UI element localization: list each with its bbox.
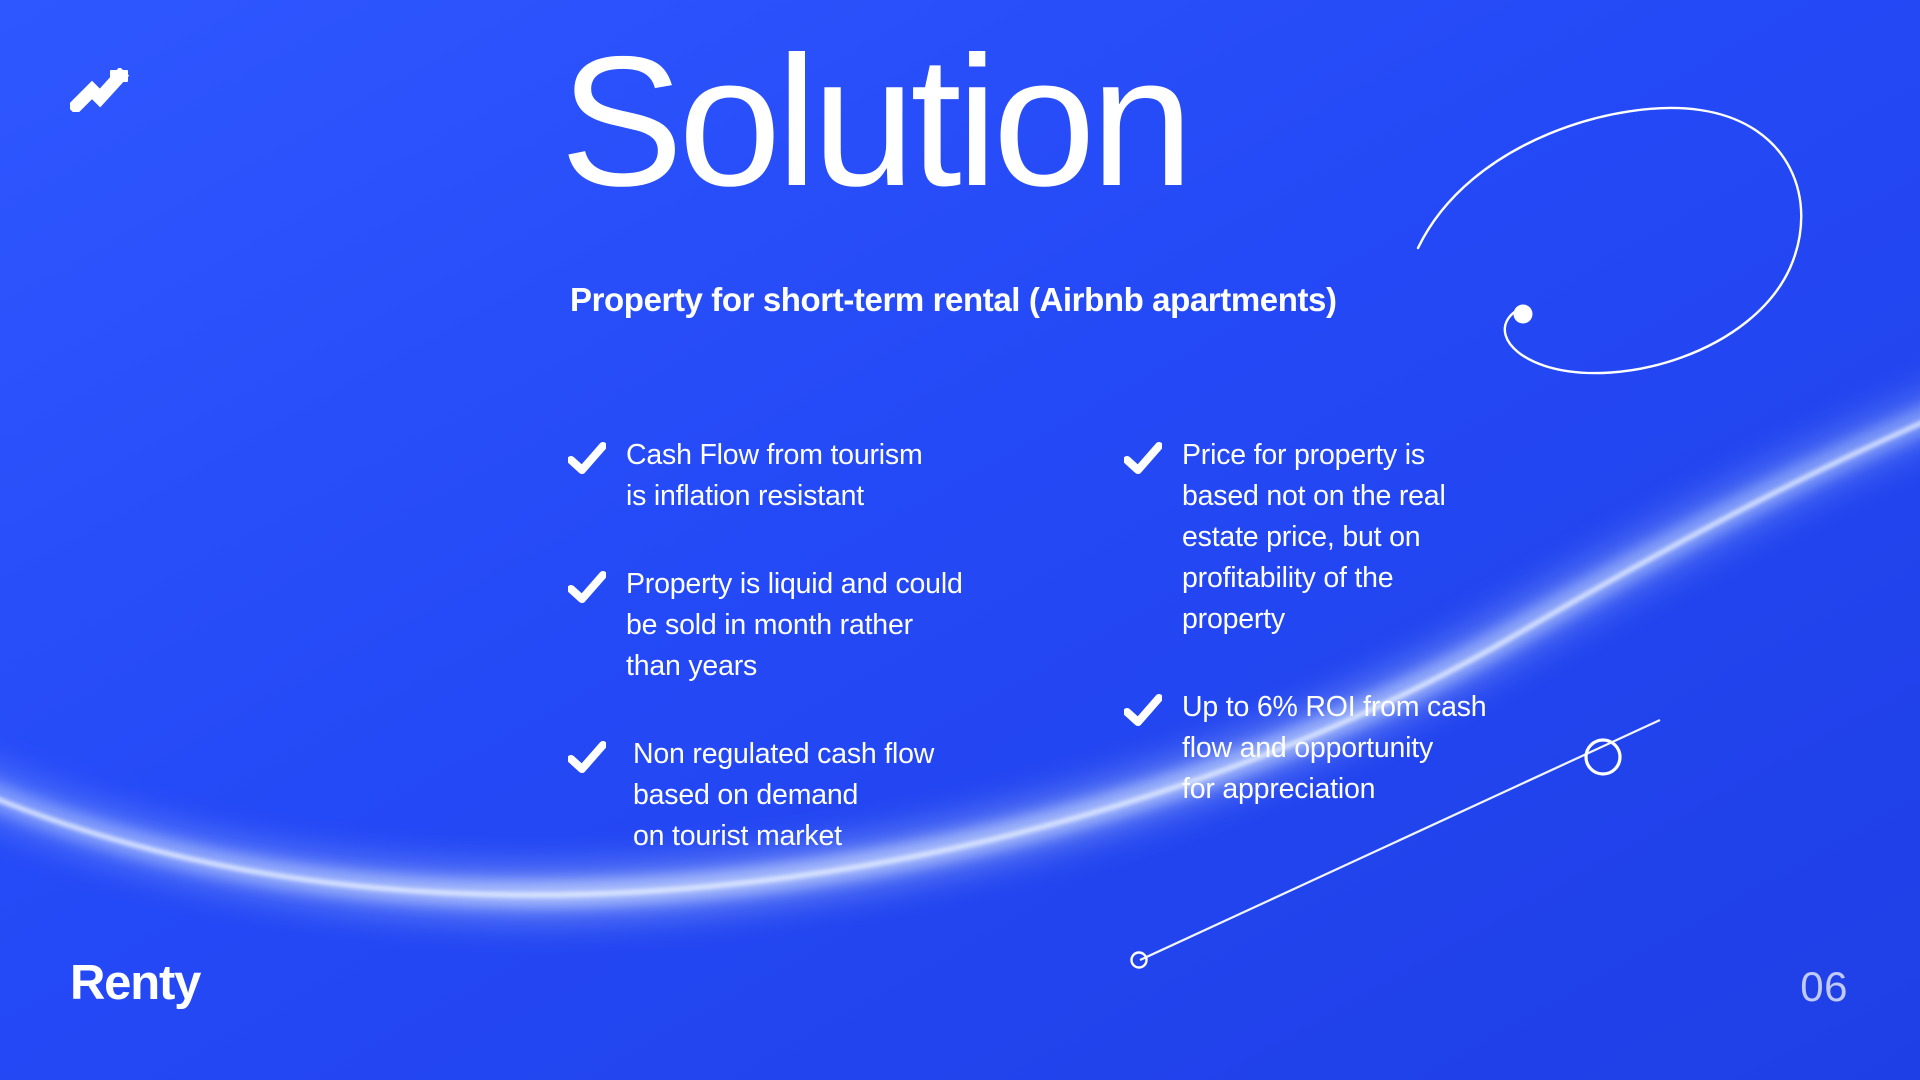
page-number: 06	[1800, 963, 1848, 1011]
benefits-column-right: Price for property is based not on the r…	[1124, 435, 1524, 857]
list-item-label: Property is liquid and could be sold in …	[626, 564, 963, 687]
check-icon	[568, 741, 606, 775]
trend-end-circle	[1586, 740, 1620, 774]
check-icon	[568, 571, 606, 605]
zigzag-chart-arrow-icon[interactable]	[70, 68, 134, 112]
list-item: Non regulated cash flow based on demand …	[568, 734, 998, 857]
list-item: Property is liquid and could be sold in …	[568, 564, 998, 687]
check-icon	[1124, 694, 1162, 728]
brand-name: Renty	[70, 955, 200, 1011]
list-item-label: Cash Flow from tourism is inflation resi…	[626, 435, 923, 517]
page-title: Solution	[560, 30, 1189, 215]
list-item-label: Up to 6% ROI from cash flow and opportun…	[1182, 687, 1486, 810]
presentation-slide: Solution Property for short-term rental …	[0, 0, 1920, 1080]
list-item-label: Non regulated cash flow based on demand …	[626, 734, 934, 857]
benefits-column-left: Cash Flow from tourism is inflation resi…	[568, 435, 998, 904]
list-item: Up to 6% ROI from cash flow and opportun…	[1124, 687, 1524, 810]
check-icon	[568, 442, 606, 476]
loop-end-dot	[1514, 305, 1533, 324]
check-icon	[1124, 442, 1162, 476]
page-subtitle: Property for short-term rental (Airbnb a…	[570, 281, 1337, 319]
list-item: Price for property is based not on the r…	[1124, 435, 1524, 640]
swoosh-loop-line	[1418, 108, 1801, 373]
list-item: Cash Flow from tourism is inflation resi…	[568, 435, 998, 517]
list-item-label: Price for property is based not on the r…	[1182, 435, 1446, 640]
trend-start-dot	[1132, 953, 1147, 968]
